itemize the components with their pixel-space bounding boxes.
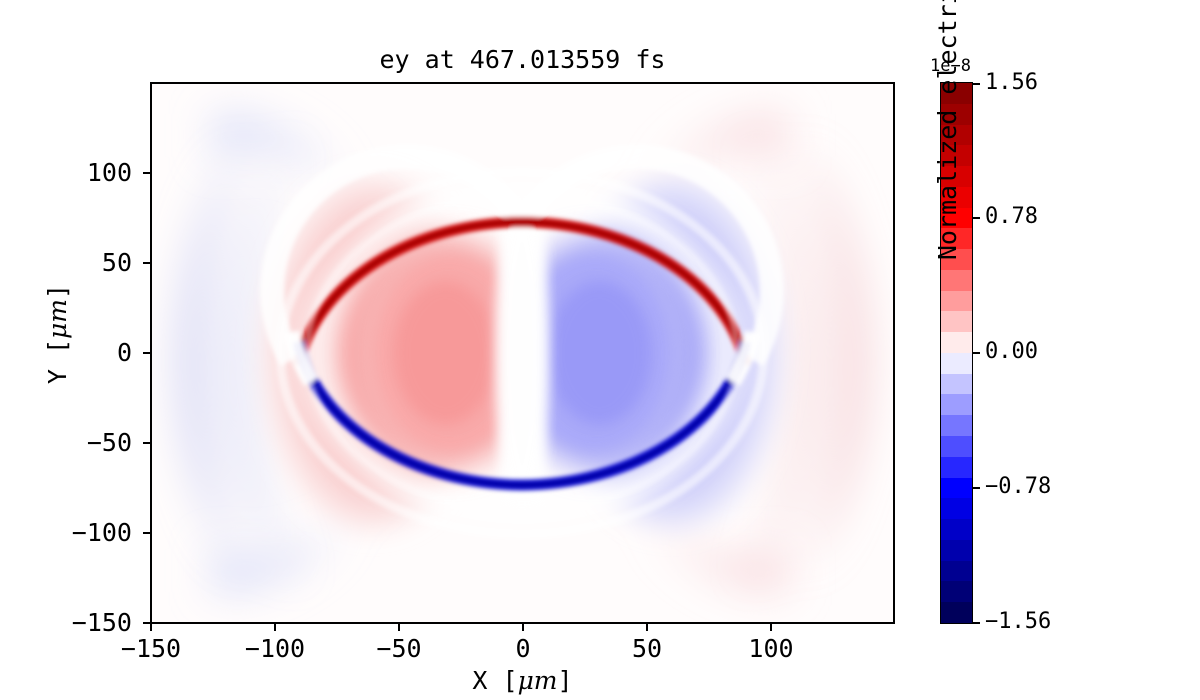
colorbar-tick (973, 352, 980, 354)
x-tick-label: −50 (339, 634, 459, 664)
x-tick (770, 624, 772, 631)
y-tick (143, 172, 150, 174)
colorbar-tick (973, 622, 980, 624)
colorbar-band (941, 478, 972, 499)
colorbar-tick (973, 487, 980, 489)
plot-axes (150, 82, 895, 624)
colorbar-band (941, 374, 972, 395)
y-tick (143, 262, 150, 264)
x-tick-label: 0 (463, 634, 583, 664)
x-tick (646, 624, 648, 631)
y-tick (143, 442, 150, 444)
colorbar-tick-label: 0.78 (985, 203, 1038, 231)
y-axis-unit: μm (43, 299, 72, 339)
colorbar-band (941, 394, 972, 415)
plot-title: ey at 467.013559 fs (150, 46, 895, 74)
colorbar-band (941, 519, 972, 540)
colorbar-tick (973, 217, 980, 219)
colorbar-band (941, 540, 972, 561)
colorbar-band (941, 415, 972, 436)
x-axis-label-text: X (472, 666, 487, 695)
x-axis-unit: μm (518, 666, 558, 695)
x-tick-label: −150 (91, 634, 211, 664)
x-axis-label: X [μm] (150, 667, 895, 695)
colorbar-band (941, 602, 972, 623)
colorbar-tick-label: 1.56 (985, 69, 1038, 97)
y-tick (143, 622, 150, 624)
y-axis-unit-open: [ (43, 339, 72, 369)
y-tick (143, 352, 150, 354)
y-axis-unit-close: ] (43, 284, 72, 299)
colorbar-band (941, 581, 972, 602)
y-axis-label-text: Y (43, 369, 72, 384)
x-tick-label: 100 (711, 634, 831, 664)
x-tick (150, 624, 152, 631)
colorbar-tick-label: −1.56 (985, 608, 1051, 636)
y-axis-label: Y [μm] (44, 204, 72, 464)
colorbar-label: Normalized electric field (934, 0, 962, 352)
colorbar-band (941, 436, 972, 457)
x-tick-label: −100 (215, 634, 335, 664)
colorbar-tick-label: −0.78 (985, 473, 1051, 501)
y-tick-label: 100 (0, 157, 132, 188)
y-tick-label: −150 (0, 607, 132, 638)
x-tick-label: 50 (587, 634, 707, 664)
colorbar-tick-label: 0.00 (985, 338, 1038, 366)
colorbar-band (941, 498, 972, 519)
field-heatmap (152, 84, 893, 622)
x-tick (398, 624, 400, 631)
x-axis-unit-open: [ (487, 666, 517, 695)
colorbar-band (941, 457, 972, 478)
x-tick (522, 624, 524, 631)
x-axis-unit-close: ] (558, 666, 573, 695)
y-tick-label: −100 (0, 517, 132, 548)
x-tick (274, 624, 276, 631)
y-tick (143, 532, 150, 534)
colorbar-tick (973, 83, 980, 85)
colorbar-band (941, 561, 972, 582)
figure-canvas: ey at 467.013559 fs (0, 0, 1200, 700)
colorbar-band (941, 353, 972, 374)
